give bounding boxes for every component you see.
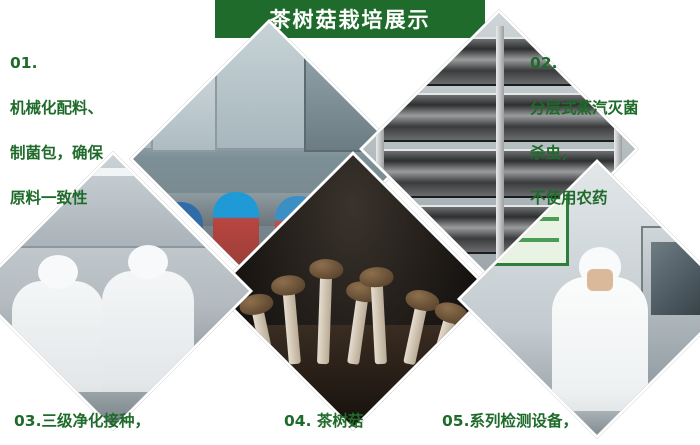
step-text-line: 原料一致性 xyxy=(10,187,175,209)
rack-post xyxy=(496,26,504,267)
cultivation-showcase-poster: 茶树菇栽培展示 xyxy=(0,0,700,445)
caption-step-05: 05.系列检测设备， 产品质量安全有保障 xyxy=(442,388,692,445)
caption-step-03: 03.三级净化接种， 不使用化学品 xyxy=(14,388,244,445)
step-number: 04. xyxy=(284,412,311,430)
mushroom xyxy=(371,280,387,365)
lab-cabinet xyxy=(641,226,700,404)
page-title: 茶树菇栽培展示 xyxy=(270,4,431,34)
cabinet-glass xyxy=(651,242,700,315)
step-text-line: 03.三级净化接种， xyxy=(14,410,244,432)
step-text: 茶树菇 xyxy=(317,412,364,430)
step-number: 02. xyxy=(530,52,698,74)
step-number: 03. xyxy=(14,412,41,430)
step-text-line: 机械化配料、 xyxy=(10,97,175,119)
step-text: 三级净化接种， xyxy=(41,412,150,430)
step-text: 系列检测设备， xyxy=(469,412,578,430)
caption-step-02: 02. 分层式蒸汽灭菌 杀虫， 不使用农药 xyxy=(530,30,698,232)
step-text-line: 不使用农药 xyxy=(530,187,698,209)
step-number: 01. xyxy=(10,52,175,74)
caption-step-04: 04. 茶树菇 栽培现场 xyxy=(284,388,434,445)
caption-step-01: 01. 机械化配料、 制菌包，确保 原料一致性 xyxy=(10,30,175,232)
step-text-line: 分层式蒸汽灭菌 xyxy=(530,97,698,119)
step-text-line: 杀虫， xyxy=(530,142,698,164)
step-text-line: 05.系列检测设备， xyxy=(442,410,692,432)
step-number: 05. xyxy=(442,412,469,430)
step-text-line: 04. 茶树菇 xyxy=(284,410,434,432)
step-text-line: 制菌包，确保 xyxy=(10,142,175,164)
